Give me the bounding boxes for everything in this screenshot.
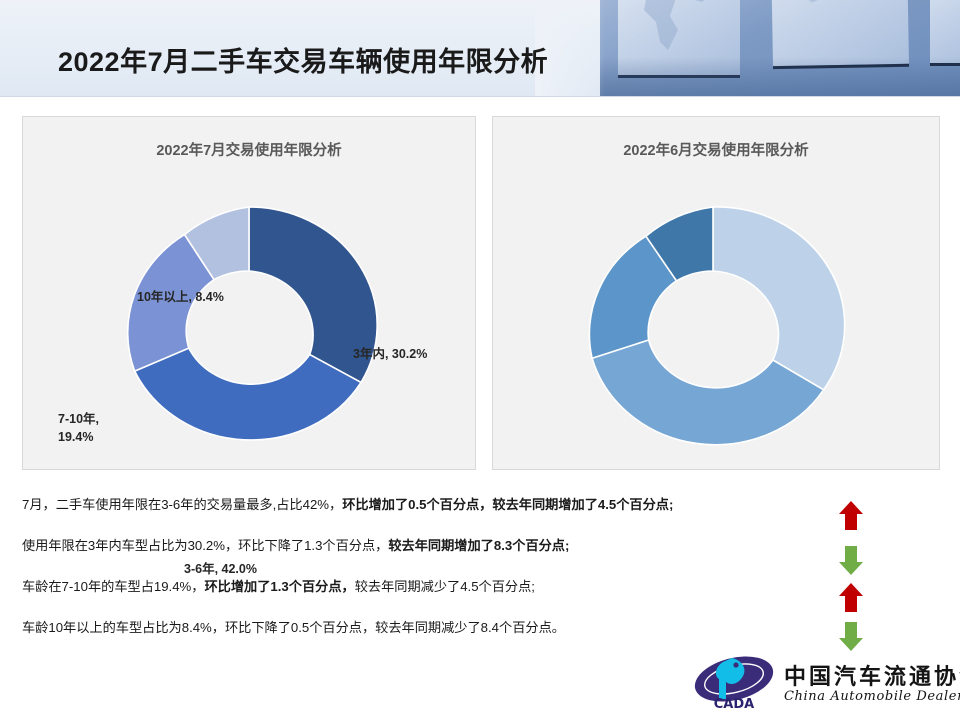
note-line-4: 车龄10年以上的车型占比为8.4%，环比下降了0.5个百分点，较去年同期减少了8… bbox=[22, 618, 565, 638]
chart-panel-july: 2022年7月交易使用年限分析 10年以上, 8.4% 3年内, 30.2% 7… bbox=[22, 116, 476, 470]
chart-title-july: 2022年7月交易使用年限分析 bbox=[23, 139, 475, 160]
note-text: 车龄10年以上的车型占比为8.4%，环比下降了0.5个百分点，较去年同期减少了8… bbox=[22, 620, 565, 635]
note-line-1: 7月，二手车使用年限在3-6年的交易量最多,占比42%，环比增加了0.5个百分点… bbox=[22, 495, 673, 515]
cada-abbr-text: CADA bbox=[714, 697, 754, 711]
cada-emblem-icon: CADA bbox=[692, 655, 776, 711]
header-divider bbox=[0, 96, 960, 97]
slice-label-over10-july: 10年以上, 8.4% bbox=[137, 288, 224, 306]
note-emphasis: 较去年同期增加了8.3个百分点; bbox=[388, 538, 569, 553]
note-text: 7月，二手车使用年限在3-6年的交易量最多,占比42%， bbox=[22, 497, 342, 512]
arrow-down-icon bbox=[838, 620, 864, 652]
note-line-2: 使用年限在3年内车型占比为30.2%，环比下降了1.3个百分点，较去年同期增加了… bbox=[22, 536, 569, 556]
arrow-up-icon bbox=[838, 500, 864, 532]
cada-logo: CADA 中国汽车流通协会 China Automobile Dealers A… bbox=[692, 655, 954, 713]
note-text: 较去年同期减少了4.5个百分点; bbox=[355, 579, 535, 594]
slide-header: 2022年7月二手车交易车辆使用年限分析 bbox=[0, 0, 960, 97]
arrow-up-icon bbox=[838, 582, 864, 614]
arrow-down-icon bbox=[838, 544, 864, 576]
donut-chart-june bbox=[573, 195, 853, 455]
note-line-3: 车龄在7-10年的车型占19.4%，环比增加了1.3个百分点，较去年同期减少了4… bbox=[22, 577, 535, 597]
donut-chart-july bbox=[109, 195, 389, 455]
header-shadow bbox=[600, 57, 960, 97]
note-text: 使用年限在3年内车型占比为30.2%，环比下降了1.3个百分点， bbox=[22, 538, 388, 553]
logo-name-cn: 中国汽车流通协会 bbox=[784, 659, 960, 691]
slice-label-7to10-july: 7-10年, 19.4% bbox=[58, 410, 138, 446]
logo-name-en: China Automobile Dealers Association bbox=[784, 689, 960, 704]
note-emphasis: 环比增加了0.5个百分点，较去年同期增加了4.5个百分点; bbox=[342, 497, 673, 512]
note-text: 车龄在7-10年的车型占19.4%， bbox=[22, 579, 204, 594]
header-decoration-cubes bbox=[600, 0, 960, 97]
chart-title-june: 2022年6月交易使用年限分析 bbox=[493, 139, 939, 160]
slice-label-within3-july: 3年内, 30.2% bbox=[353, 345, 427, 363]
note-emphasis: 环比增加了1.3个百分点， bbox=[204, 579, 354, 594]
slice-label-3to6-july: 3-6年, 42.0% bbox=[184, 560, 257, 578]
chart-panel-june: 2022年6月交易使用年限分析 10年以上, 8.8% 3年内, 31.5% 7… bbox=[492, 116, 940, 470]
page-title: 2022年7月二手车交易车辆使用年限分析 bbox=[58, 40, 548, 79]
